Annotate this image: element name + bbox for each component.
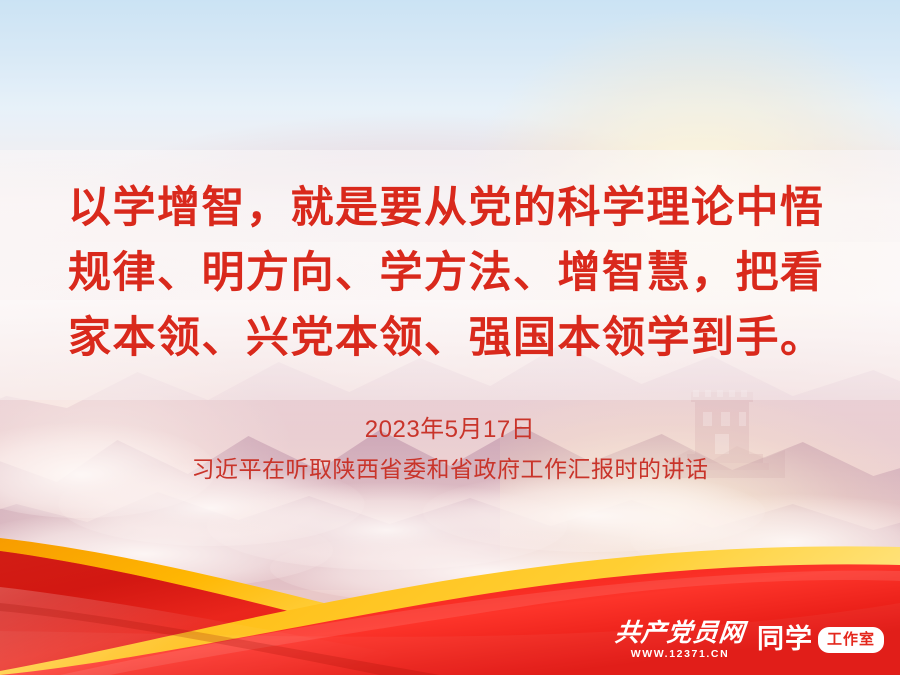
logo-studio[interactable]: 同学 工作室 bbox=[757, 625, 884, 655]
logo-studio-name: 同学 bbox=[757, 625, 813, 655]
logo-12371-site[interactable]: 共产党员网 WWW.12371.CN bbox=[615, 620, 745, 661]
headline-quote: 以学增智，就是要从党的科学理论中悟规律、明方向、学方法、增智慧，把看家本领、兴党… bbox=[68, 176, 848, 371]
logo-12371-url: WWW.12371.CN bbox=[631, 647, 730, 661]
attribution-block: 2023年5月17日 习近平在听取陕西省委和省政府工作汇报时的讲话 bbox=[0, 412, 900, 486]
footer-logo-bar: 共产党员网 WWW.12371.CN 同学 工作室 bbox=[615, 612, 890, 668]
attribution-speaker: 习近平在听取陕西省委和省政府工作汇报时的讲话 bbox=[0, 452, 900, 486]
poster-canvas: 以学增智，就是要从党的科学理论中悟规律、明方向、学方法、增智慧，把看家本领、兴党… bbox=[0, 0, 900, 675]
logo-12371-wordmark: 共产党员网 bbox=[614, 620, 747, 646]
attribution-date: 2023年5月17日 bbox=[0, 412, 900, 448]
logo-studio-pill: 工作室 bbox=[818, 627, 884, 653]
